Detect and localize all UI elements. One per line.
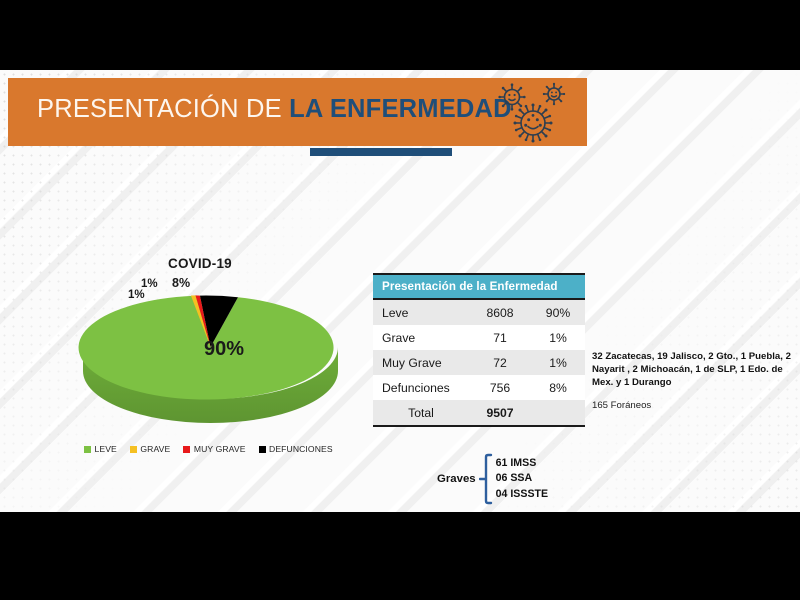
pie-label-defunciones: 8% [172, 276, 190, 290]
legend-swatch-defunciones [259, 446, 266, 453]
legend-item-leve: LEVE [84, 444, 117, 454]
chart-title: COVID-19 [168, 256, 232, 271]
cell-label: Muy Grave [373, 350, 469, 375]
presentation-slide: PRESENTACIÓN DE LA ENFERMEDAD [0, 70, 800, 512]
legend-swatch-leve [84, 446, 91, 453]
table-header-title: Presentación de la Enfermedad [373, 275, 585, 299]
table-row: Grave 71 1% [373, 325, 585, 350]
page-title-bold: LA ENFERMEDAD [289, 95, 512, 123]
cell-label: Defunciones [373, 375, 469, 400]
pie-label-grave: 1% [128, 289, 145, 301]
cell-total-count: 9507 [469, 400, 531, 425]
cell-count: 8608 [469, 299, 531, 325]
legend-item-grave: GRAVE [130, 444, 170, 454]
pie-label-leve: 90% [204, 338, 244, 361]
coronavirus-icon [488, 81, 588, 145]
legend-swatch-muy-grave [183, 446, 190, 453]
legend-label-muy-grave: MUY GRAVE [194, 444, 246, 454]
chart-legend: LEVE GRAVE MUY GRAVE DEFUNCIONES [84, 444, 333, 454]
cell-pct: 8% [531, 375, 585, 400]
table-total-row: Total 9507 [373, 400, 585, 425]
pie-label-muy-grave: 1% [141, 278, 158, 290]
table-row: Leve 8608 90% [373, 299, 585, 325]
slide-viewer: PRESENTACIÓN DE LA ENFERMEDAD [0, 0, 800, 600]
legend-swatch-grave [130, 446, 137, 453]
title-underline [310, 148, 452, 156]
cell-pct: 1% [531, 350, 585, 375]
disease-presentation-table: Presentación de la Enfermedad Leve 8608 … [373, 273, 585, 427]
states-note: 32 Zacatecas, 19 Jalisco, 2 Gto., 1 Pueb… [592, 351, 798, 389]
breakdown-graves: Graves 61 IMSS 06 SSA 04 ISSSTE [437, 453, 548, 505]
legend-label-defunciones: DEFUNCIONES [269, 444, 333, 454]
cell-label: Grave [373, 325, 469, 350]
breakdown-item: 06 SSA [496, 471, 548, 486]
title-banner: PRESENTACIÓN DE LA ENFERMEDAD [8, 78, 587, 146]
cell-count: 72 [469, 350, 531, 375]
page-title: PRESENTACIÓN DE LA ENFERMEDAD [37, 95, 512, 124]
breakdown-item: 04 ISSSTE [496, 487, 548, 502]
breakdown-items-graves: 61 IMSS 06 SSA 04 ISSSTE [496, 456, 548, 501]
cell-count: 71 [469, 325, 531, 350]
cell-pct: 1% [531, 325, 585, 350]
legend-item-defunciones: DEFUNCIONES [259, 444, 333, 454]
table-row: Defunciones 756 8% [373, 375, 585, 400]
legend-item-muy-grave: MUY GRAVE [183, 444, 245, 454]
legend-label-grave: GRAVE [140, 444, 170, 454]
cell-pct: 90% [531, 299, 585, 325]
cell-total-pct [531, 400, 585, 425]
brace-icon [479, 453, 493, 505]
table-header-row: Presentación de la Enfermedad [373, 275, 585, 299]
cell-label: Leve [373, 299, 469, 325]
cell-count: 756 [469, 375, 531, 400]
page-title-light: PRESENTACIÓN DE [37, 95, 289, 123]
legend-label-leve: LEVE [95, 444, 117, 454]
table-row: Muy Grave 72 1% [373, 350, 585, 375]
breakdown-item: 61 IMSS [496, 456, 548, 471]
cell-total-label: Total [373, 400, 469, 425]
breakdown-label-graves: Graves [437, 473, 476, 485]
foraneos-note: 165 Foráneos [592, 400, 651, 411]
